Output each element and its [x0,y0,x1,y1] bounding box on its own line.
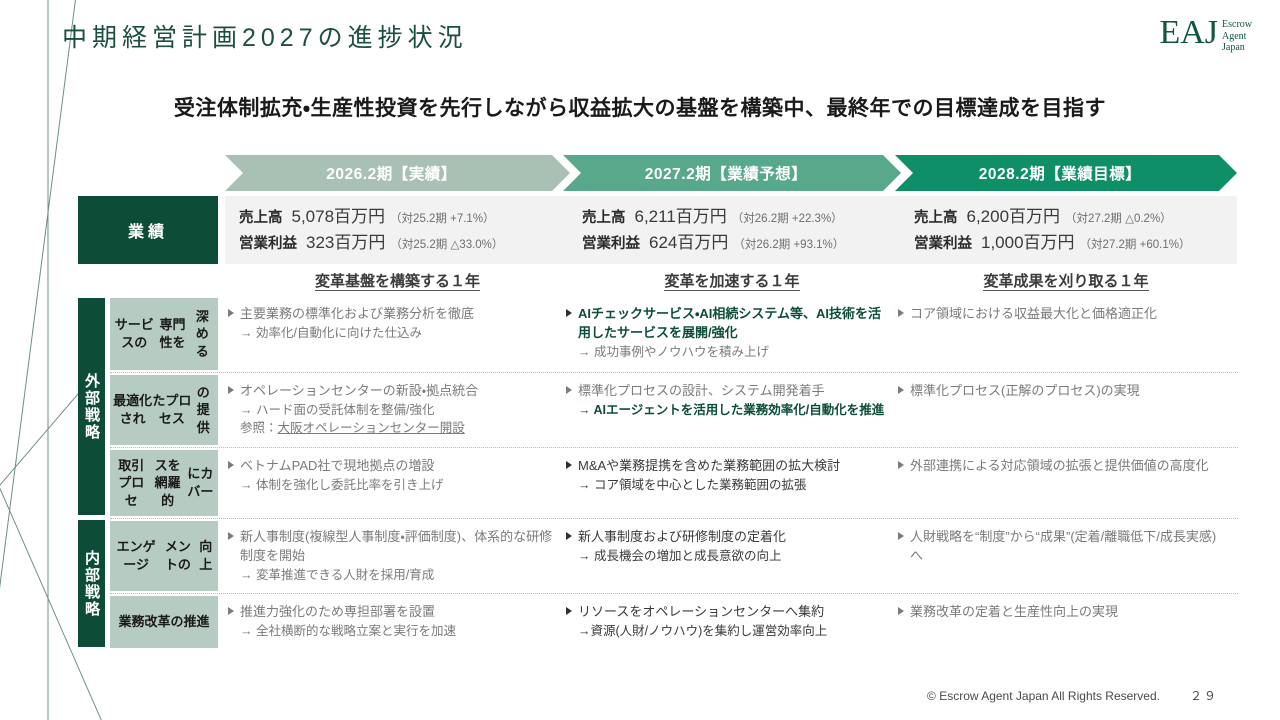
results-metric-label: 売上高 [582,207,626,229]
matrix-row-label-line: 深める [190,308,216,361]
timeline-chevron-2: 2027.2期【業績予想】 [563,155,901,191]
matrix-row: 業務改革の推進推進力強化のため専担部署を設置→ 全社横断的な戦略立案と実行を加速… [110,593,1238,650]
matrix-row-cells: オペレーションセンターの新設・拠点統合→ ハード面の受託体制を整備/強化参照：大… [218,373,1238,447]
results-band: 売上高5,078百万円（対25.2期 +7.1%）営業利益323百万円（対25.… [225,196,1237,264]
results-metric-change: （対25.2期 +7.1%） [390,211,495,229]
column-subheading-2: 変革を加速する１年 [664,270,799,291]
matrix-row-label-line: たプロセス [152,392,191,427]
results-metric-label: 売上高 [239,207,283,229]
matrix-cell: AIチェックサービス・AI相続システム等、AI技術を活用したサービスを展開/強化… [556,296,894,372]
bullet-triangle-icon [566,461,572,469]
bullet-triangle-icon [898,309,904,317]
results-metric-value: 624百万円 [649,230,728,256]
matrix-bullet: ベトナムPAD社で現地拠点の増設→ 体制を強化し委託比率を引き上げ [228,457,555,494]
matrix-row-label-line: 取引プロセ [113,457,149,510]
matrix-bullet: 標準化プロセスの設計、システム開発着手→ AIエージェントを活用した業務効率化/… [566,382,886,419]
matrix-cell-main-text: 主要業務の標準化および業務分析を徹底→ 効率化/自動化に向けた仕込み [240,305,474,342]
matrix-bullet: 外部連携による対応領域の拡張と提供価値の高度化 [898,457,1222,476]
matrix-cell-main-text: コア領域における収益最大化と価格適正化 [910,305,1157,324]
matrix-cell: ベトナムPAD社で現地拠点の増設→ 体制を強化し委託比率を引き上げ [218,448,563,518]
results-metric-change: （対25.2期 △33.0%） [390,237,503,255]
matrix-cell: リソースをオペレーションセンターへ集約→資源(人財/ノウハウ)を集約し運営効率向… [556,594,894,650]
timeline-chevron-1: 2026.2期【実績】 [225,155,570,191]
matrix-row: 最適化されたプロセスの提供オペレーションセンターの新設・拠点統合→ ハード面の受… [110,372,1238,447]
group-bar-1: 外部戦略 [78,298,105,515]
matrix-row-label: 取引プロセスを網羅的にカバー [110,450,218,516]
bullet-triangle-icon [566,607,572,615]
results-metric-value: 6,200百万円 [967,204,1061,230]
footer: © Escrow Agent Japan All Rights Reserved… [927,687,1218,704]
group-bar-2: 内部戦略 [78,520,105,647]
matrix-row-label: 最適化されたプロセスの提供 [110,375,218,445]
matrix-row: エンゲージメントの向上新人事制度(複線型人事制度・評価制度)、体系的な研修制度を… [110,518,1238,593]
matrix-cell-main-text: AIチェックサービス・AI相続システム等、AI技術を活用したサービスを展開/強化… [578,305,886,361]
results-line: 売上高6,211百万円（対26.2期 +22.3%） [582,204,901,230]
results-metric-value: 1,000百万円 [981,230,1075,256]
matrix-bullet: 新人事制度および研修制度の定着化→ 成長機会の増加と成長意欲の向上 [566,528,886,565]
matrix-row-label-line: 向上 [196,538,215,573]
matrix-cell-sub-text: → 成功事例やノウハウを積み上げ [578,343,886,361]
strategy-matrix: サービスの専門性を深める主要業務の標準化および業務分析を徹底→ 効率化/自動化に… [110,296,1238,650]
matrix-cell-sub-text: →資源(人財/ノウハウ)を集約し運営効率向上 [578,622,827,640]
matrix-cell: オペレーションセンターの新設・拠点統合→ ハード面の受託体制を整備/強化参照：大… [218,373,563,447]
logo-line-agent: Agent [1222,31,1252,43]
matrix-bullet: オペレーションセンターの新設・拠点統合→ ハード面の受託体制を整備/強化参照：大… [228,382,555,437]
matrix-cell-sub-text: → 変革推進できる人財を採用/育成 [240,566,555,584]
results-metric-label: 売上高 [914,207,958,229]
results-line: 売上高5,078百万円（対25.2期 +7.1%） [239,204,570,230]
results-metric-value: 5,078百万円 [292,204,386,230]
copyright-text: © Escrow Agent Japan All Rights Reserved… [927,689,1160,703]
results-cell-1: 売上高5,078百万円（対25.2期 +7.1%）営業利益323百万円（対25.… [225,196,570,264]
timeline-chevron-3: 2028.2期【業績目標】 [895,155,1237,191]
column-subheading-3: 変革成果を刈り取る１年 [983,270,1148,291]
matrix-row-label-line: 推進 [184,613,210,631]
matrix-row-label: 業務改革の推進 [110,596,218,648]
bullet-triangle-icon [228,386,234,394]
matrix-cell-main-text: 外部連携による対応領域の拡張と提供価値の高度化 [910,457,1209,476]
results-metric-label: 営業利益 [239,233,297,255]
bullet-triangle-icon [566,309,572,317]
logo-text-eaj: EAJ [1159,16,1218,50]
column-subheadings: 変革基盤を構築する１年変革を加速する１年変革成果を刈り取る１年 [225,270,1237,296]
matrix-cell: 推進力強化のため専担部署を設置→ 全社横断的な戦略立案と実行を加速 [218,594,563,650]
matrix-cell-main-text: 推進力強化のため専担部署を設置→ 全社横断的な戦略立案と実行を加速 [240,603,456,640]
headline-message: 受注体制拡充・生産性投資を先行しながら収益拡大の基盤を構築中、最終年での目標達成… [0,92,1280,122]
bullet-triangle-icon [228,309,234,317]
bullet-triangle-icon [228,607,234,615]
matrix-row-label-line: 専門性を [156,316,190,351]
matrix-cell-sub-text: → ハード面の受託体制を整備/強化 [240,401,478,419]
matrix-bullet: M&Aや業務提携を含めた業務範囲の拡大検討→ コア領域を中心とした業務範囲の拡張 [566,457,886,494]
matrix-cell-main-text: オペレーションセンターの新設・拠点統合→ ハード面の受託体制を整備/強化参照：大… [240,382,478,437]
matrix-cell-main-text: 業務改革の定着と生産性向上の実現 [910,603,1118,622]
matrix-row-label-line: の提供 [191,384,215,437]
matrix-row-label-line: サービスの [113,316,156,351]
matrix-bullet: 主要業務の標準化および業務分析を徹底→ 効率化/自動化に向けた仕込み [228,305,555,342]
bullet-triangle-icon [898,386,904,394]
reference-link[interactable]: 大阪オペレーションセンター開設 [278,421,465,435]
matrix-cell-main-text: 人財戦略を“制度”から“成果”(定着/離職低下/成長実感)へ [910,528,1222,566]
bullet-triangle-icon [566,532,572,540]
timeline-chevron-label: 2026.2期【実績】 [326,162,456,184]
matrix-row-cells: 主要業務の標準化および業務分析を徹底→ 効率化/自動化に向けた仕込みAIチェック… [218,296,1238,372]
matrix-cell: 新人事制度および研修制度の定着化→ 成長機会の増加と成長意欲の向上 [556,519,894,593]
matrix-row: 取引プロセスを網羅的にカバーベトナムPAD社で現地拠点の増設→ 体制を強化し委託… [110,447,1238,518]
matrix-row-label-line: にカバー [186,465,215,500]
matrix-row-label-line: 最適化され [113,392,152,427]
logo-line-japan: Japan [1222,42,1252,54]
slide-root: 中期経営計画2027の進捗状況 EAJ Escrow Agent Japan 受… [0,0,1280,720]
matrix-cell-main-text: M&Aや業務提携を含めた業務範囲の拡大検討→ コア領域を中心とした業務範囲の拡張 [578,457,840,494]
matrix-cell: 標準化プロセスの設計、システム開発着手→ AIエージェントを活用した業務効率化/… [556,373,894,447]
matrix-cell: 外部連携による対応領域の拡張と提供価値の高度化 [888,448,1230,518]
matrix-cell-main-text: 新人事制度および研修制度の定着化→ 成長機会の増加と成長意欲の向上 [578,528,786,565]
matrix-bullet: 標準化プロセス(正解のプロセス)の実現 [898,382,1222,401]
results-metric-change: （対26.2期 +93.1%） [733,237,844,255]
results-metric-label: 営業利益 [582,233,640,255]
results-line: 営業利益624百万円（対26.2期 +93.1%） [582,230,901,256]
matrix-cell-main-text: 新人事制度(複線型人事制度・評価制度)、体系的な研修制度を開始→ 変革推進できる… [240,528,555,584]
bullet-triangle-icon [228,461,234,469]
matrix-bullet: AIチェックサービス・AI相続システム等、AI技術を活用したサービスを展開/強化… [566,305,886,361]
matrix-cell-sub-text: → 効率化/自動化に向けた仕込み [240,324,474,342]
matrix-bullet: コア領域における収益最大化と価格適正化 [898,305,1222,324]
matrix-cell-main-text: リソースをオペレーションセンターへ集約→資源(人財/ノウハウ)を集約し運営効率向… [578,603,827,640]
matrix-cell-main-text: ベトナムPAD社で現地拠点の増設→ 体制を強化し委託比率を引き上げ [240,457,443,494]
results-metric-value: 323百万円 [306,230,385,256]
column-subheading-wrap-2: 変革を加速する１年 [563,270,901,296]
matrix-cell: コア領域における収益最大化と価格適正化 [888,296,1230,372]
matrix-bullet: 新人事制度(複線型人事制度・評価制度)、体系的な研修制度を開始→ 変革推進できる… [228,528,555,584]
matrix-row-label: エンゲージメントの向上 [110,521,218,591]
page-number: ２９ [1190,687,1218,704]
bullet-triangle-icon [898,461,904,469]
matrix-cell-main-text: 標準化プロセスの設計、システム開発着手→ AIエージェントを活用した業務効率化/… [578,382,884,419]
timeline-chevron-label: 2027.2期【業績予想】 [645,162,807,184]
matrix-bullet: リソースをオペレーションセンターへ集約→資源(人財/ノウハウ)を集約し運営効率向… [566,603,886,640]
results-metric-label: 営業利益 [914,233,972,255]
results-metric-change: （対27.2期 △0.2%） [1065,211,1172,229]
results-metric-change: （対27.2期 +60.1%） [1080,237,1191,255]
matrix-cell: 人財戦略を“制度”から“成果”(定着/離職低下/成長実感)へ [888,519,1230,593]
matrix-cell-sub-text: → 体制を強化し委託比率を引き上げ [240,476,443,494]
results-metric-value: 6,211百万円 [635,204,727,230]
matrix-row-cells: ベトナムPAD社で現地拠点の増設→ 体制を強化し委託比率を引き上げM&Aや業務提… [218,448,1238,518]
column-subheading-1: 変革基盤を構築する１年 [315,270,480,291]
logo-subtext: Escrow Agent Japan [1222,16,1252,54]
matrix-cell-sub-text: → コア領域を中心とした業務範囲の拡張 [578,476,840,494]
bullet-triangle-icon [898,532,904,540]
results-line: 営業利益1,000百万円（対27.2期 +60.1%） [914,230,1237,256]
matrix-row-label-line: エンゲージ [113,538,159,573]
matrix-bullet: 業務改革の定着と生産性向上の実現 [898,603,1222,622]
matrix-bullet: 推進力強化のため専担部署を設置→ 全社横断的な戦略立案と実行を加速 [228,603,555,640]
matrix-row-label-line: メントの [159,538,196,573]
results-cell-2: 売上高6,211百万円（対26.2期 +22.3%）営業利益624百万円（対26… [568,196,901,264]
matrix-row-cells: 新人事制度(複線型人事制度・評価制度)、体系的な研修制度を開始→ 変革推進できる… [218,519,1238,593]
column-subheading-wrap-3: 変革成果を刈り取る１年 [895,270,1237,296]
matrix-cell-main-text: 標準化プロセス(正解のプロセス)の実現 [910,382,1140,401]
matrix-bullet: 人財戦略を“制度”から“成果”(定着/離職低下/成長実感)へ [898,528,1222,566]
matrix-cell-sub-text: → 成長機会の増加と成長意欲の向上 [578,547,786,565]
matrix-cell: 業務改革の定着と生産性向上の実現 [888,594,1230,650]
matrix-cell: 標準化プロセス(正解のプロセス)の実現 [888,373,1230,447]
page-title: 中期経営計画2027の進捗状況 [62,18,468,54]
logo-line-escrow: Escrow [1222,19,1252,31]
column-subheading-wrap-1: 変革基盤を構築する１年 [225,270,570,296]
matrix-cell-sub-text: → 全社横断的な戦略立案と実行を加速 [240,622,456,640]
matrix-row-label: サービスの専門性を深める [110,298,218,370]
matrix-row-label-line: スを網羅的 [149,457,185,510]
bullet-triangle-icon [228,532,234,540]
results-line: 売上高6,200百万円（対27.2期 △0.2%） [914,204,1237,230]
matrix-cell: M&Aや業務提携を含めた業務範囲の拡大検討→ コア領域を中心とした業務範囲の拡張 [556,448,894,518]
results-line: 営業利益323百万円（対25.2期 △33.0%） [239,230,570,256]
matrix-row-label-line: 業務改革の [118,613,183,631]
matrix-cell: 新人事制度(複線型人事制度・評価制度)、体系的な研修制度を開始→ 変革推進できる… [218,519,563,593]
bullet-triangle-icon [566,386,572,394]
company-logo: EAJ Escrow Agent Japan [1159,16,1252,54]
bullet-triangle-icon [898,607,904,615]
timeline-chevron-label: 2028.2期【業績目標】 [979,162,1141,184]
results-cell-3: 売上高6,200百万円（対27.2期 △0.2%）営業利益1,000百万円（対2… [900,196,1237,264]
results-metric-change: （対26.2期 +22.3%） [732,211,843,229]
matrix-cell-sub-text: → AIエージェントを活用した業務効率化/自動化を推進 [578,401,884,419]
matrix-row: サービスの専門性を深める主要業務の標準化および業務分析を徹底→ 効率化/自動化に… [110,296,1238,372]
group-label-performance: 業績 [78,196,218,264]
matrix-cell: 主要業務の標準化および業務分析を徹底→ 効率化/自動化に向けた仕込み [218,296,563,372]
matrix-row-cells: 推進力強化のため専担部署を設置→ 全社横断的な戦略立案と実行を加速リソースをオペ… [218,594,1238,650]
matrix-cell-sub-text[interactable]: 参照：大阪オペレーションセンター開設 [240,419,478,437]
timeline-banner: 2026.2期【実績】2027.2期【業績予想】2028.2期【業績目標】 [225,155,1237,191]
